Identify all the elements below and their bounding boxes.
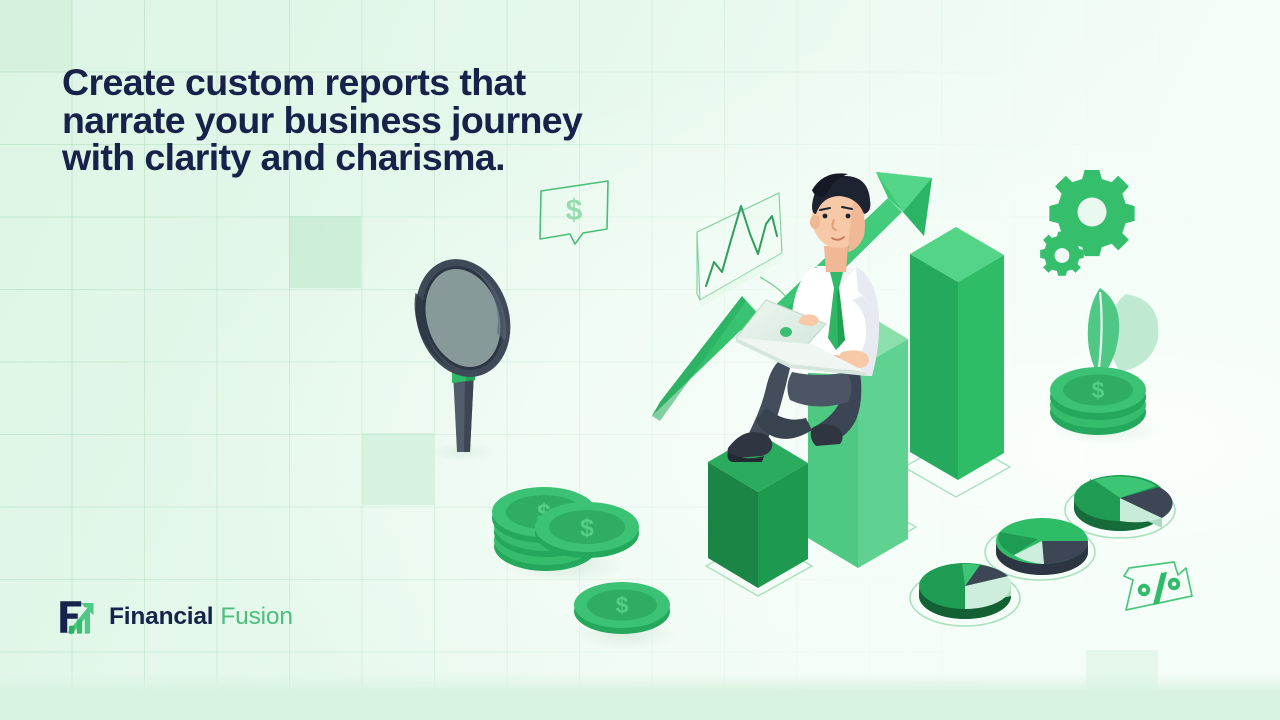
- svg-text:$: $: [566, 194, 583, 227]
- magnifier: [401, 247, 524, 461]
- brand-logo-text: Financial Fusion: [109, 603, 293, 631]
- coin-single: $: [574, 582, 678, 650]
- brand-word-one: Financial: [109, 603, 213, 631]
- line-chart-panel: [697, 193, 795, 314]
- brand-word-two: Fusion: [220, 603, 292, 631]
- percent-tag: [1124, 562, 1192, 610]
- pie-chart-2: [985, 518, 1095, 580]
- svg-text:$: $: [580, 514, 594, 542]
- svg-text:$: $: [616, 592, 629, 618]
- page-title: Create custom reports that narrate your …: [62, 64, 682, 177]
- bar-3: [910, 227, 1004, 480]
- financial-fusion-logo-mark-icon: [55, 596, 97, 638]
- banner-root: $: [0, 0, 1280, 720]
- gears: [1040, 170, 1134, 276]
- speech-bubble-dollar: $: [540, 181, 608, 244]
- pie-chart-3: [1065, 475, 1175, 538]
- svg-text:$: $: [1092, 377, 1105, 403]
- coin-stack-left: $ $: [492, 487, 639, 582]
- brand-logo[interactable]: Financial Fusion: [55, 596, 293, 638]
- gear-small: [1040, 232, 1084, 276]
- coin-stack-right: $: [1050, 288, 1162, 445]
- coin: $: [535, 502, 639, 558]
